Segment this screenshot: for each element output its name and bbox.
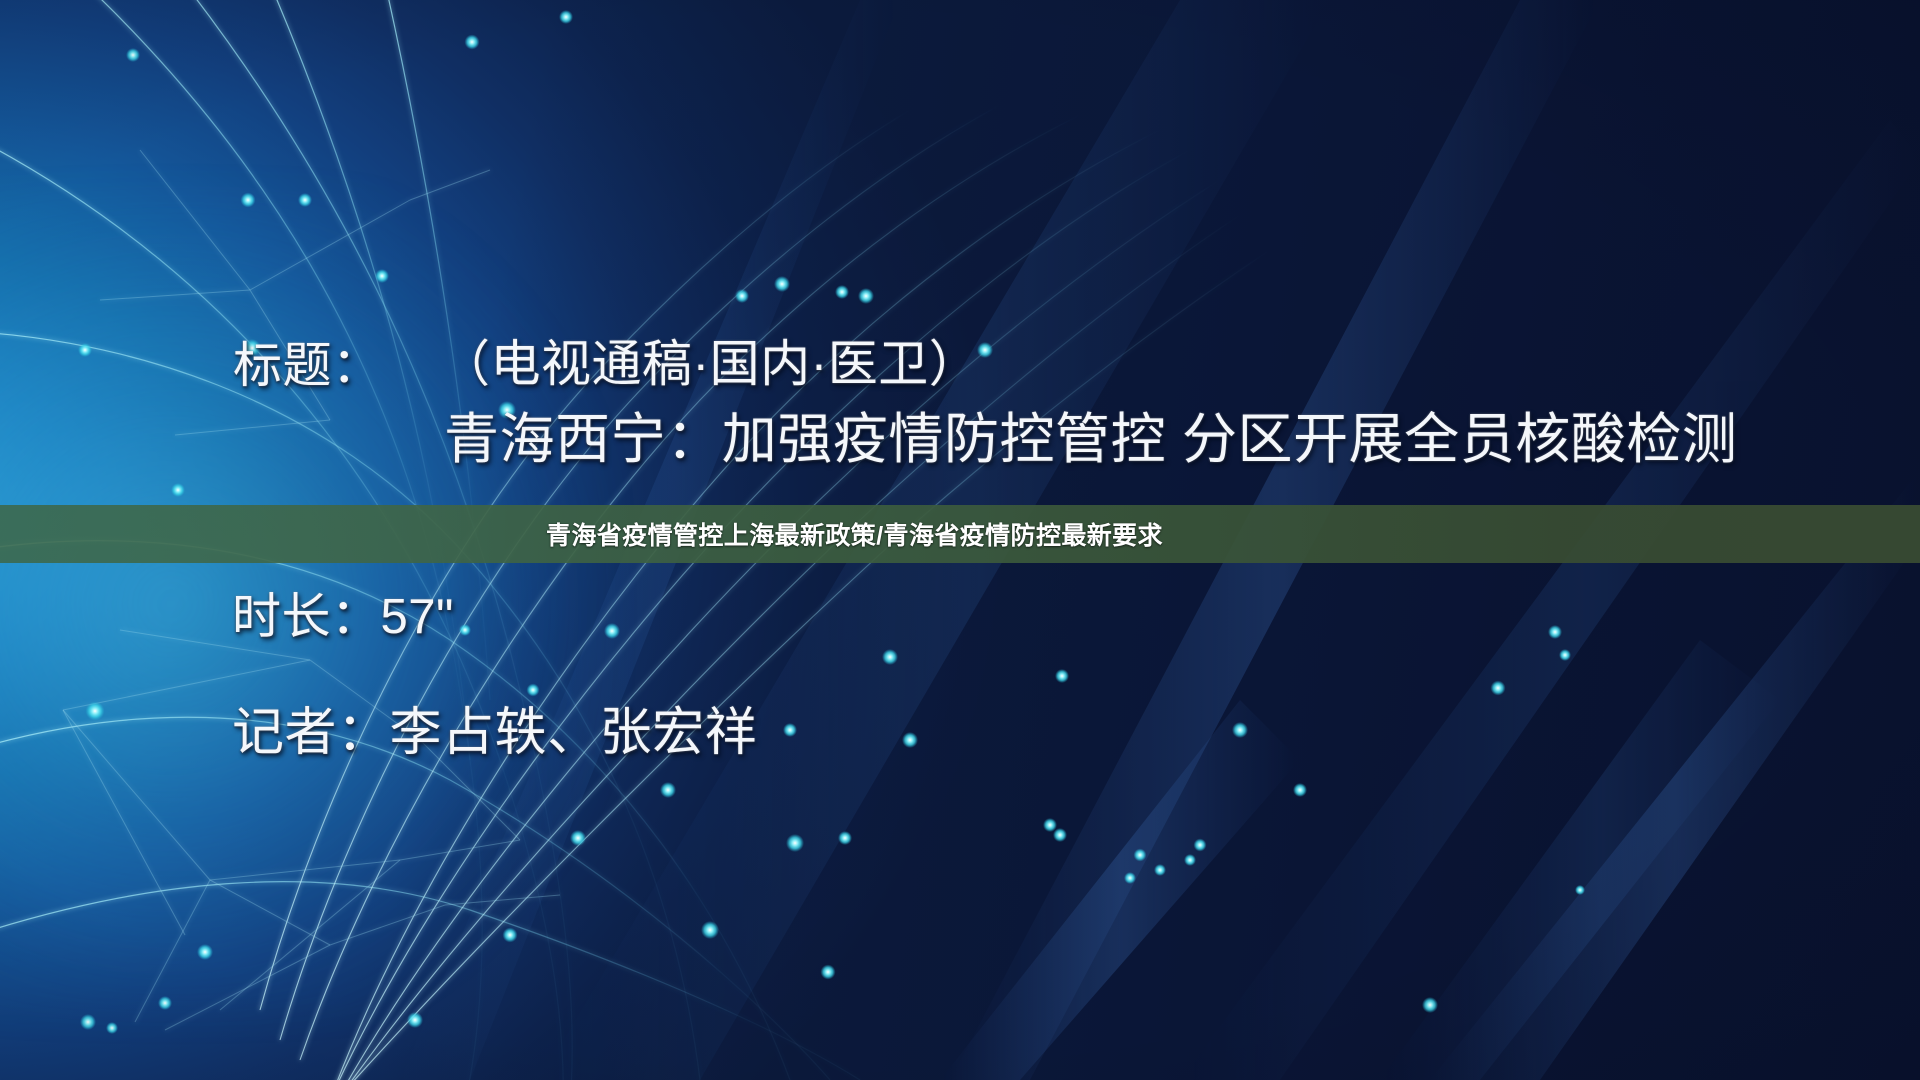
- title-label: 标题：: [233, 326, 381, 397]
- overlay-banner-text: 青海省疫情管控上海最新政策/青海省疫情防控最新要求: [546, 516, 1163, 552]
- duration-line: 时长：57": [232, 577, 454, 648]
- title-line-1: （电视通稿·国内·医卫）: [440, 324, 979, 396]
- slide-canvas: 标题： （电视通稿·国内·医卫） 青海西宁：加强疫情防控管控 分区开展全员核酸检…: [0, 0, 1920, 1080]
- title-line-2: 青海西宁：加强疫情防控管控 分区开展全员核酸检测: [444, 394, 1737, 474]
- reporter-line: 记者：李占轶、张宏祥: [232, 690, 757, 765]
- overlay-banner: 青海省疫情管控上海最新政策/青海省疫情防控最新要求: [0, 505, 1920, 563]
